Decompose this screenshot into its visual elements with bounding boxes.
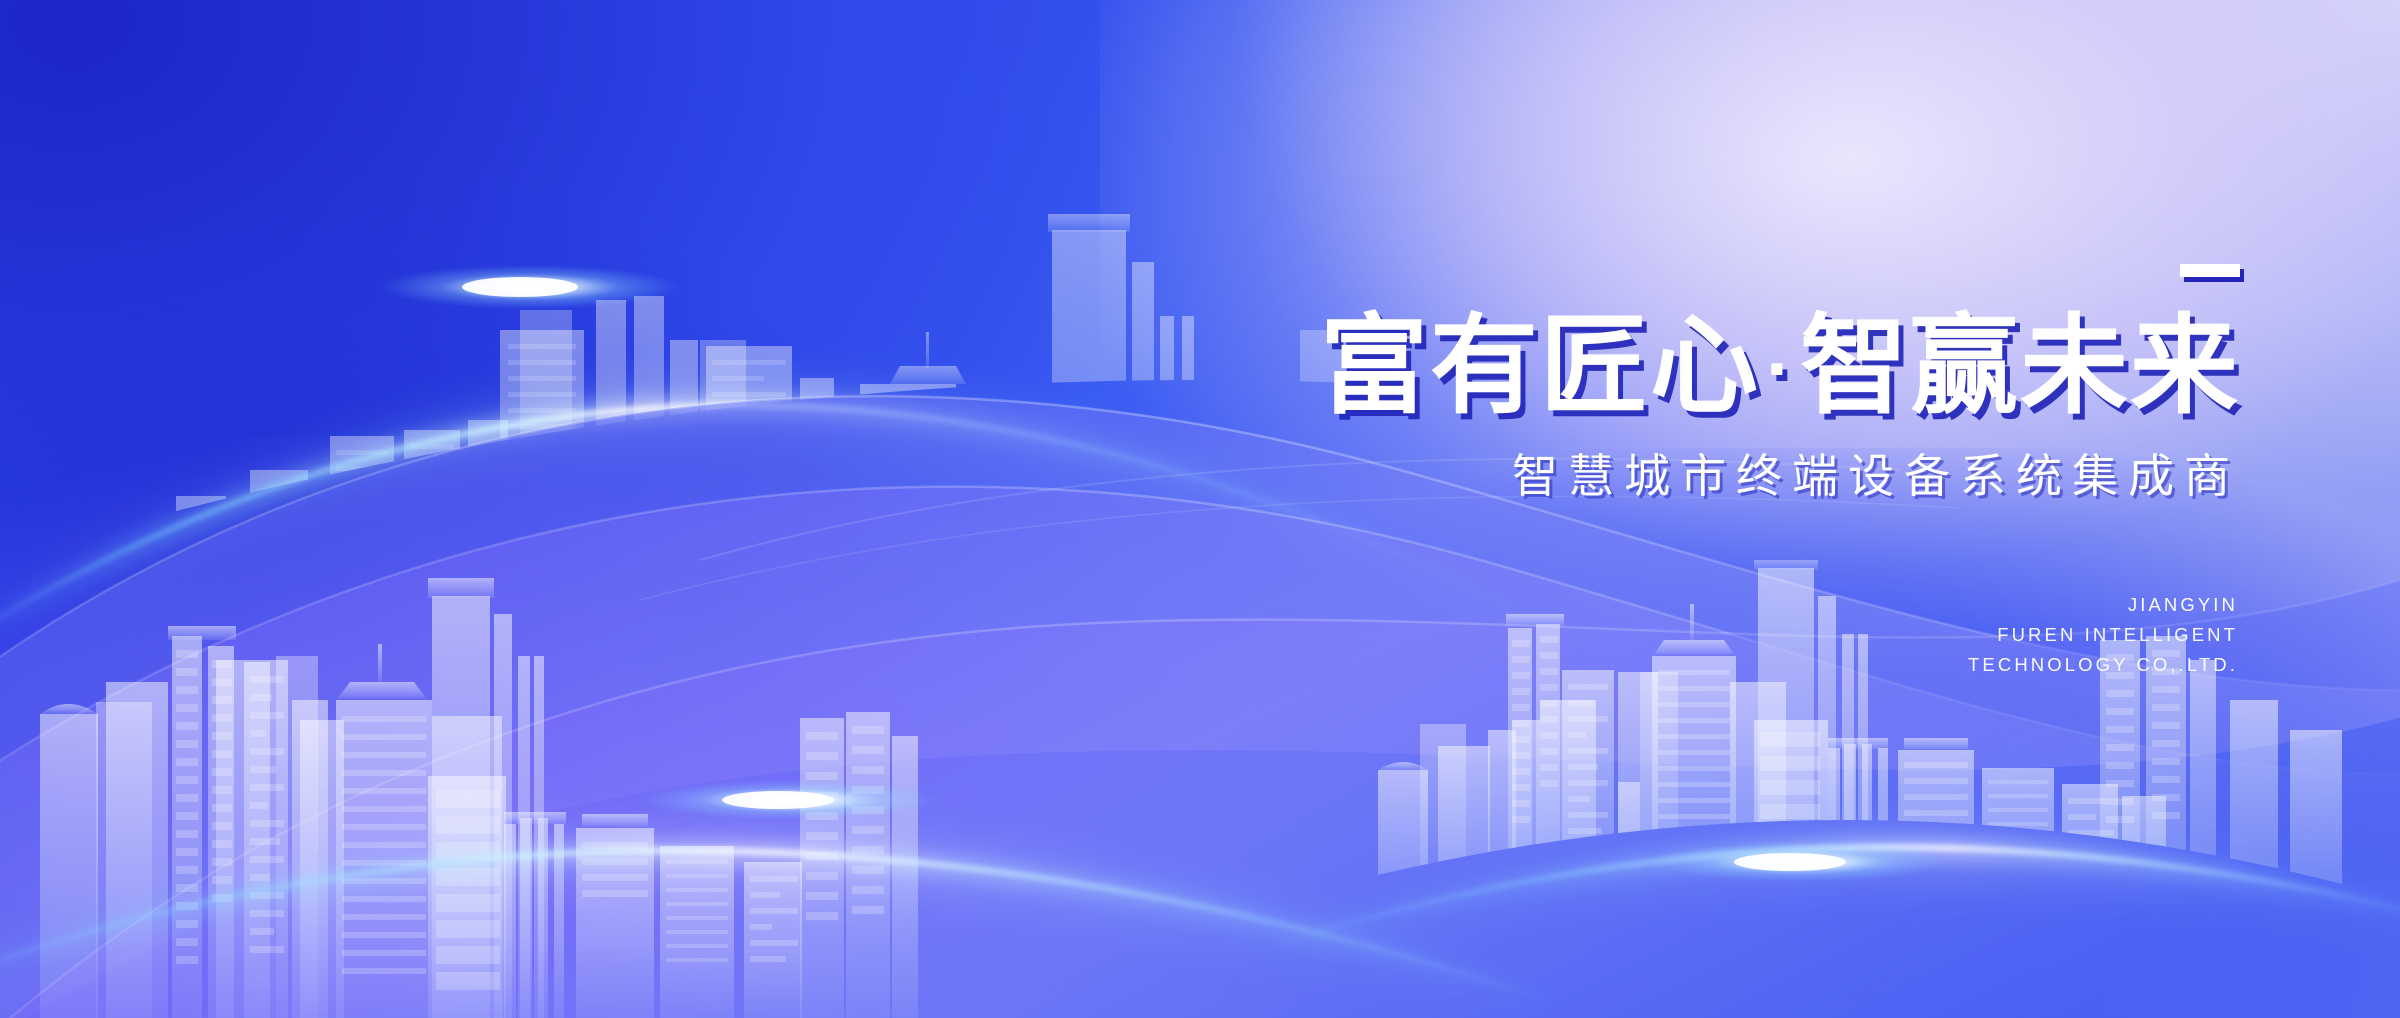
dash-mark-icon: [2180, 264, 2240, 277]
title-part-1: 富有匠心: [1320, 305, 1760, 426]
company-line-1: JIANGYIN: [1060, 590, 2238, 620]
headline-block: 富有匠心·智赢未来 智慧城市终端设备系统集成商 JIANGYIN FUREN I…: [1060, 250, 2240, 680]
title-separator-dot: ·: [1760, 324, 1800, 412]
page-subtitle: 智慧城市终端设备系统集成商: [1060, 440, 2240, 506]
company-name-block: JIANGYIN FUREN INTELLIGENT TECHNOLOGY CO…: [1060, 590, 2240, 680]
decor-tick-row: [1060, 250, 2240, 310]
company-line-3: TECHNOLOGY CO,.LTD.: [1060, 650, 2238, 680]
company-line-2: FUREN INTELLIGENT: [1060, 620, 2238, 650]
page-title: 富有匠心·智赢未来: [1060, 310, 2240, 422]
promo-banner: 富有匠心·智赢未来 智慧城市终端设备系统集成商 JIANGYIN FUREN I…: [0, 0, 2400, 1018]
title-part-2: 智赢未来: [1800, 305, 2240, 426]
